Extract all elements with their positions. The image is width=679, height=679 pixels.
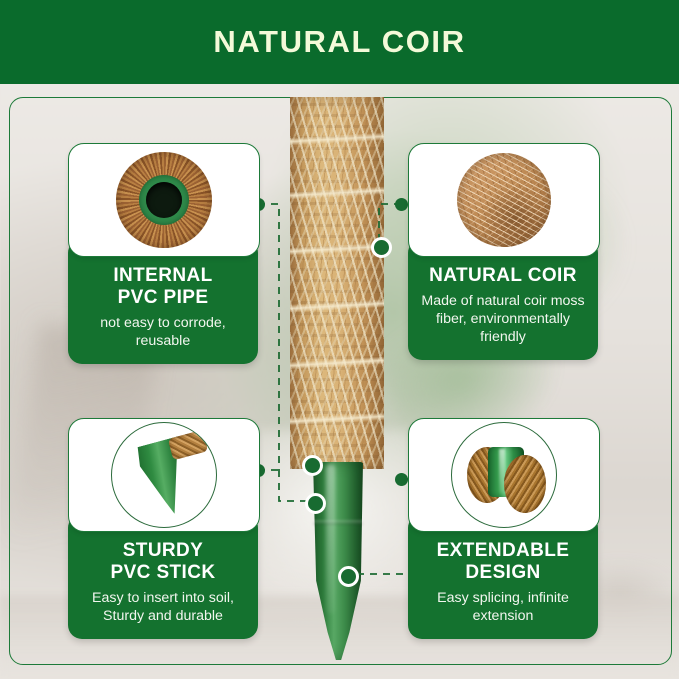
feature-photo-natural-coir <box>408 143 600 257</box>
pole-marker-dot-upper <box>371 237 392 258</box>
stake-marker-dot-mid <box>305 493 326 514</box>
pvc-stake-seam <box>313 520 363 525</box>
coir-fiber-closeup-icon <box>409 144 599 256</box>
feature-body-sturdy-pvc-stick: STURDY PVC STICK Easy to insert into soi… <box>68 514 258 639</box>
feature-card-internal-pvc-pipe[interactable]: INTERNAL PVC PIPE not easy to corrode, r… <box>68 143 258 364</box>
feature-title-natural-coir: NATURAL COIR <box>418 265 588 287</box>
feature-title-line1: STURDY <box>123 540 204 561</box>
coir-pole-image <box>290 97 384 469</box>
feature-card-sturdy-pvc-stick[interactable]: STURDY PVC STICK Easy to insert into soi… <box>68 418 258 639</box>
feature-title-line2: PVC PIPE <box>118 287 209 308</box>
pipe-cross-section-icon <box>69 144 259 256</box>
feature-title-line2: DESIGN <box>465 562 540 583</box>
connector-dot-card-2 <box>395 198 408 211</box>
pvc-stake-highlight <box>326 464 335 614</box>
feature-body-internal-pvc-pipe: INTERNAL PVC PIPE not easy to corrode, r… <box>68 239 258 364</box>
feature-title-line1: NATURAL COIR <box>429 265 577 286</box>
infographic-stage: NATURAL COIR <box>0 0 679 679</box>
feature-desc-natural-coir: Made of natural coir moss fiber, environ… <box>418 292 588 346</box>
feature-card-natural-coir[interactable]: NATURAL COIR Made of natural coir moss f… <box>408 143 598 360</box>
feature-card-extendable-design[interactable]: EXTENDABLE DESIGN Easy splicing, infinit… <box>408 418 598 639</box>
feature-desc-extendable-design: Easy splicing, infinite extension <box>418 589 588 625</box>
feature-body-natural-coir: NATURAL COIR Made of natural coir moss f… <box>408 239 598 360</box>
connector-dot-card-4 <box>395 473 408 486</box>
feature-desc-internal-pvc-pipe: not easy to corrode, reusable <box>78 314 248 350</box>
feature-photo-internal-pvc-pipe <box>68 143 260 257</box>
feature-title-internal-pvc-pipe: INTERNAL PVC PIPE <box>78 265 248 309</box>
pole-marker-dot-junction <box>302 455 323 476</box>
feature-photo-sturdy-pvc-stick <box>68 418 260 532</box>
feature-desc-sturdy-pvc-stick: Easy to insert into soil, Sturdy and dur… <box>78 589 248 625</box>
header-banner: NATURAL COIR <box>0 0 679 84</box>
feature-photo-extendable-design <box>408 418 600 532</box>
feature-title-extendable-design: EXTENDABLE DESIGN <box>418 540 588 584</box>
page-title: NATURAL COIR <box>213 24 465 60</box>
feature-title-sturdy-pvc-stick: STURDY PVC STICK <box>78 540 248 584</box>
feature-title-line2: PVC STICK <box>111 562 216 583</box>
feature-title-line1: INTERNAL <box>113 265 212 286</box>
feature-title-line1: EXTENDABLE <box>437 540 570 561</box>
pvc-stake-icon <box>69 419 259 531</box>
feature-body-extendable-design: EXTENDABLE DESIGN Easy splicing, infinit… <box>408 514 598 639</box>
stake-marker-dot-lower <box>338 566 359 587</box>
spool-splice-icon <box>409 419 599 531</box>
